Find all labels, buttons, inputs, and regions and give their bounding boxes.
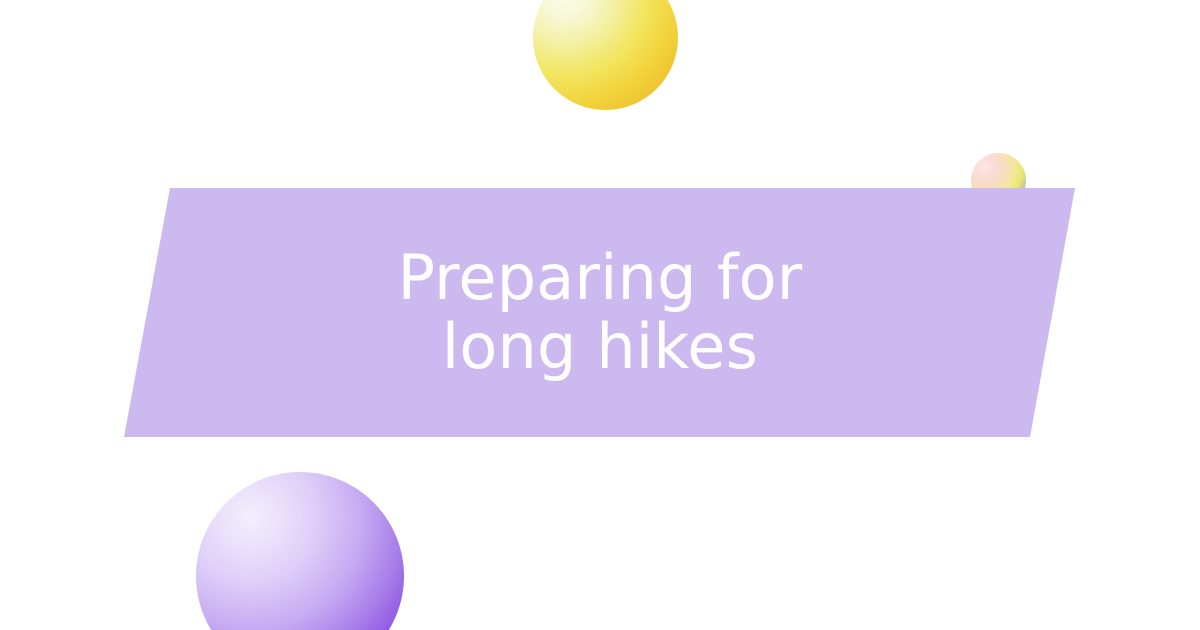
purple-sphere-decoration — [196, 472, 404, 630]
title-banner: Preparing for long hikes — [0, 188, 1200, 437]
banner-shape — [0, 188, 1200, 437]
social-card-canvas: Preparing for long hikes — [0, 0, 1200, 630]
yellow-sphere-decoration — [533, 0, 678, 110]
